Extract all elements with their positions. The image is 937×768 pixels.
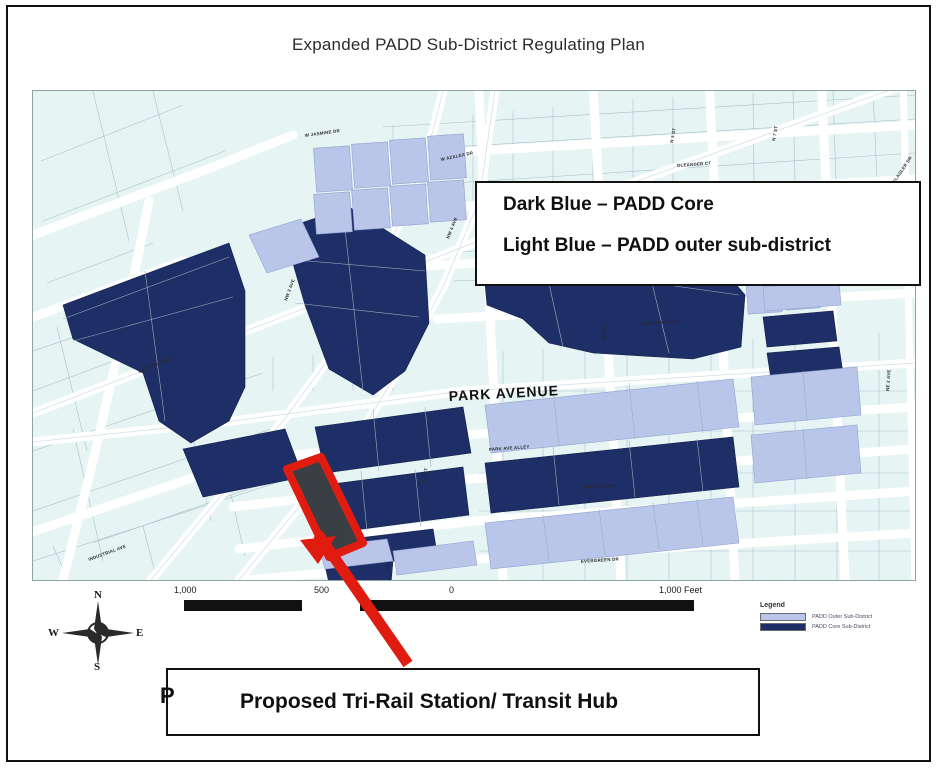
transit-hub-callout-box: Proposed Tri-Rail Station/ Transit Hub [166, 668, 760, 736]
scale-tick-500: 500 [314, 585, 329, 595]
map-legend-swatch-core [760, 623, 806, 631]
map-legend-label-core: PADD Core Sub-District [812, 624, 870, 630]
legend-light-blue-label: Light Blue – PADD outer sub-district [503, 236, 919, 255]
compass-label-east: E [136, 627, 143, 639]
compass-label-west: W [48, 627, 59, 639]
map-legend-swatch-outer [760, 613, 806, 621]
map-legend-label-outer: PADD Outer Sub-District [812, 614, 872, 620]
scale-tick-1000-left: 1,000 [174, 585, 197, 595]
compass-label-south: S [94, 661, 100, 673]
scale-bar-labels: 1,000 500 0 1,000 Feet [174, 585, 702, 598]
map-graphic: .rd { stroke:#ffffff; fill:none; stroke-… [33, 91, 915, 580]
compass-rose: N S W E [46, 591, 150, 675]
map-legend: Legend PADD Outer Sub-District PADD Core… [760, 602, 930, 650]
scale-tick-0: 0 [449, 585, 454, 595]
scale-bar-segments [184, 600, 694, 611]
page-title: Expanded PADD Sub-District Regulating Pl… [8, 35, 929, 55]
obscured-text-fragment: P [160, 683, 175, 709]
scale-bar: 1,000 500 0 1,000 Feet [174, 585, 702, 615]
legend-dark-blue-label: Dark Blue – PADD Core [503, 195, 919, 214]
map-legend-item-outer: PADD Outer Sub-District [760, 612, 930, 621]
compass-label-north: N [94, 589, 102, 601]
transit-hub-callout-label: Proposed Tri-Rail Station/ Transit Hub [240, 690, 618, 714]
scale-tick-1000-right: 1,000 Feet [659, 585, 702, 595]
slide-page: Expanded PADD Sub-District Regulating Pl… [6, 5, 931, 762]
legend-callout-box: Dark Blue – PADD Core Light Blue – PADD … [475, 181, 921, 286]
map-canvas[interactable]: .rd { stroke:#ffffff; fill:none; stroke-… [32, 90, 916, 581]
map-legend-item-core: PADD Core Sub-District [760, 622, 930, 631]
map-legend-title: Legend [760, 602, 930, 609]
